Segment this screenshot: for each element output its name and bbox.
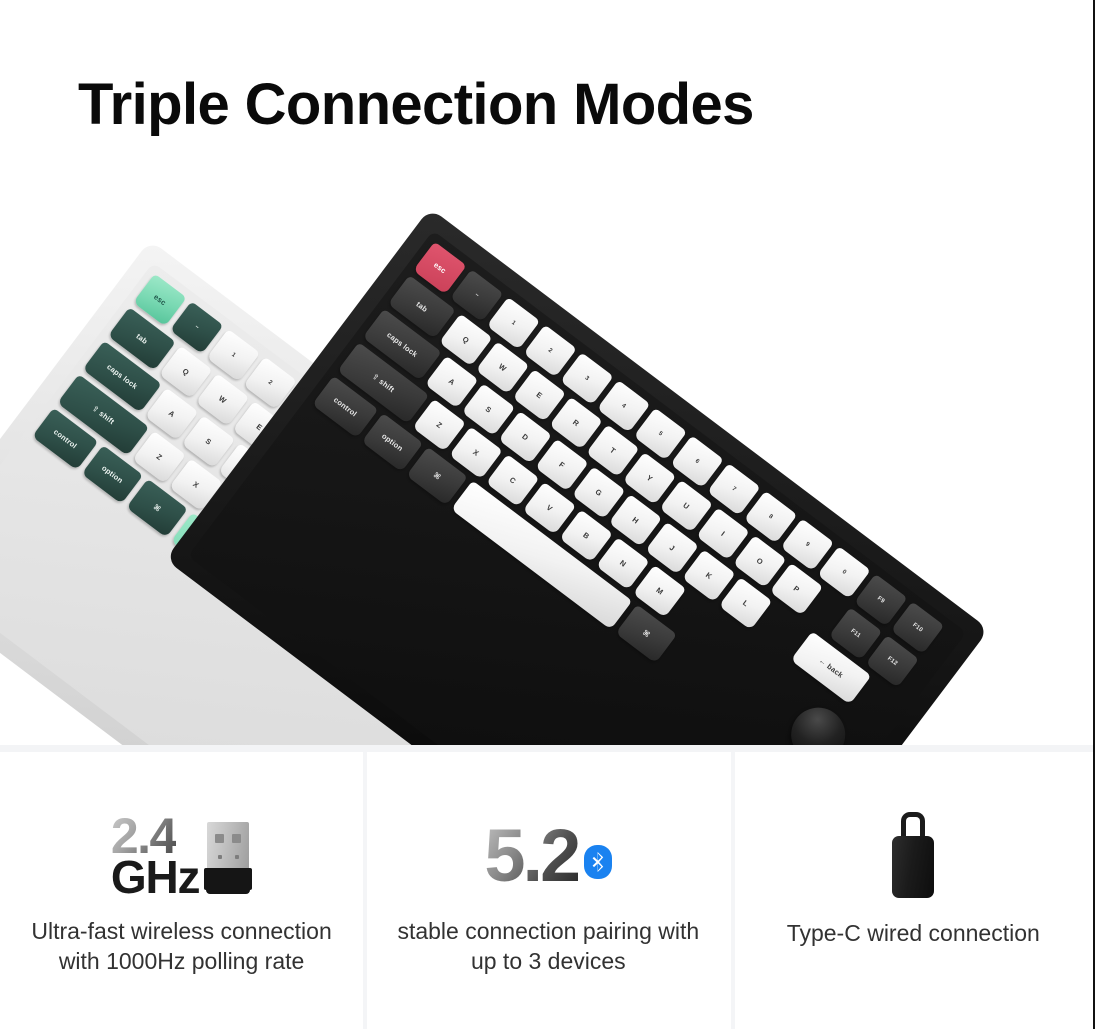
hero-keyboard-image: esc ~ 1 2 3 4 5 6 7 8 9 0 tab Q W E <box>0 180 1093 745</box>
page-title: Triple Connection Modes <box>78 74 754 137</box>
usb-type-c-icon <box>886 810 940 902</box>
type-c-body <box>892 836 934 898</box>
bluetooth-version: 5.2 <box>484 825 578 887</box>
feature-type-c-wired: Type-C wired connection <box>734 752 1093 1029</box>
connection-features: 2.4 GHz Ultra-fast wi <box>0 752 1093 1029</box>
feature-bluetooth-52: 5.2 stable connection pairing with up to… <box>363 752 733 1029</box>
ghz-lockup: 2.4 GHz <box>111 816 252 897</box>
feature-wireless-24ghz: 2.4 GHz Ultra-fast wi <box>0 752 363 1029</box>
feature-3-caption: Type-C wired connection <box>759 918 1068 948</box>
feature-2-icon-area: 5.2 <box>484 810 612 902</box>
feature-3-icon-area <box>886 810 940 902</box>
usb-dongle-icon <box>204 822 252 894</box>
page-right-border <box>1093 0 1095 1029</box>
feature-1-icon-area: 2.4 GHz <box>111 810 252 902</box>
bluetooth-lockup: 5.2 <box>484 825 612 887</box>
section-divider-band <box>0 745 1093 752</box>
product-feature-page: Triple Connection Modes esc ~ 1 2 3 4 5 … <box>0 0 1100 1029</box>
usb-dongle-connector <box>207 822 249 870</box>
usb-dongle-body <box>204 868 252 890</box>
feature-2-caption: stable connection pairing with up to 3 d… <box>389 916 708 977</box>
keyboard-scene: esc ~ 1 2 3 4 5 6 7 8 9 0 tab Q W E <box>0 180 1093 745</box>
ghz-unit: GHz <box>111 859 199 897</box>
bluetooth-icon <box>584 845 612 879</box>
feature-1-caption: Ultra-fast wireless connection with 1000… <box>25 916 337 977</box>
usb-dongle-base <box>206 888 250 894</box>
